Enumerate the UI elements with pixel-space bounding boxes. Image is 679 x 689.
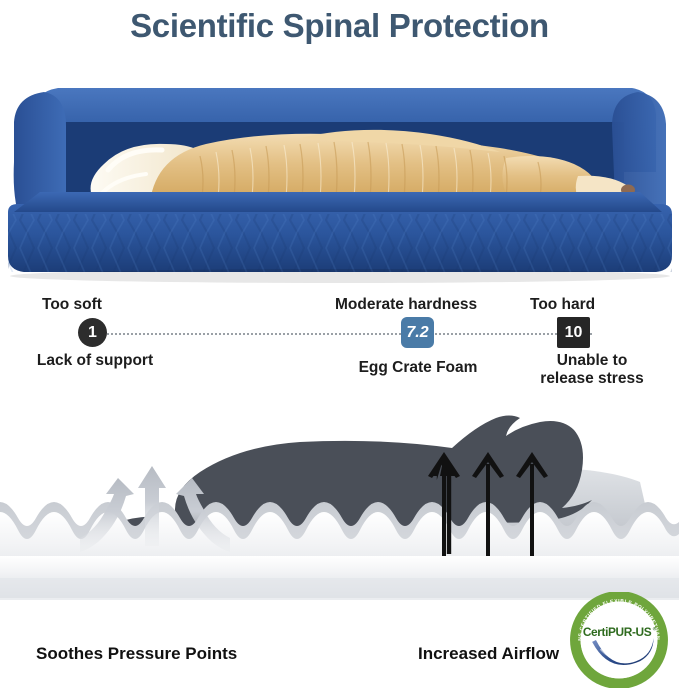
- scale-right-bottom-line2: release stress: [512, 370, 672, 388]
- scale-left-marker: 1: [78, 318, 107, 347]
- airflow-arrows: [428, 452, 548, 556]
- caption-increased-airflow: Increased Airflow: [418, 644, 559, 664]
- scale-middle-marker: 7.2: [401, 317, 434, 348]
- scale-right-top-label: Too hard: [530, 296, 595, 314]
- scale-left-bottom-label: Lack of support: [16, 352, 174, 370]
- scale-middle-top-label: Moderate hardness: [335, 296, 477, 314]
- certipur-logo-icon: CONTAINS CERTIFIED FLEXIBLE POLYURETHANE…: [570, 592, 668, 688]
- certipur-us-badge: CONTAINS CERTIFIED FLEXIBLE POLYURETHANE…: [570, 592, 668, 688]
- scale-right-bottom-label: Unable to release stress: [512, 352, 672, 389]
- scale-middle-bottom-label: Egg Crate Foam: [342, 359, 494, 377]
- scale-connector-line: [92, 333, 592, 335]
- page-title: Scientific Spinal Protection: [0, 0, 679, 52]
- certipur-wordmark: CertiPUR-US: [583, 625, 652, 639]
- scale-right-bottom-line1: Unable to: [512, 352, 672, 370]
- infographic-page: Scientific Spinal Protection: [0, 0, 679, 689]
- hardness-scale: Too soft 1 Lack of support Moderate hard…: [0, 292, 679, 392]
- dog-bed-illustration: [0, 52, 679, 290]
- product-photo: [0, 52, 679, 290]
- scale-right-marker: 10: [557, 317, 590, 348]
- scale-left-top-label: Too soft: [42, 296, 102, 314]
- caption-soothes-pressure-points: Soothes Pressure Points: [36, 644, 237, 664]
